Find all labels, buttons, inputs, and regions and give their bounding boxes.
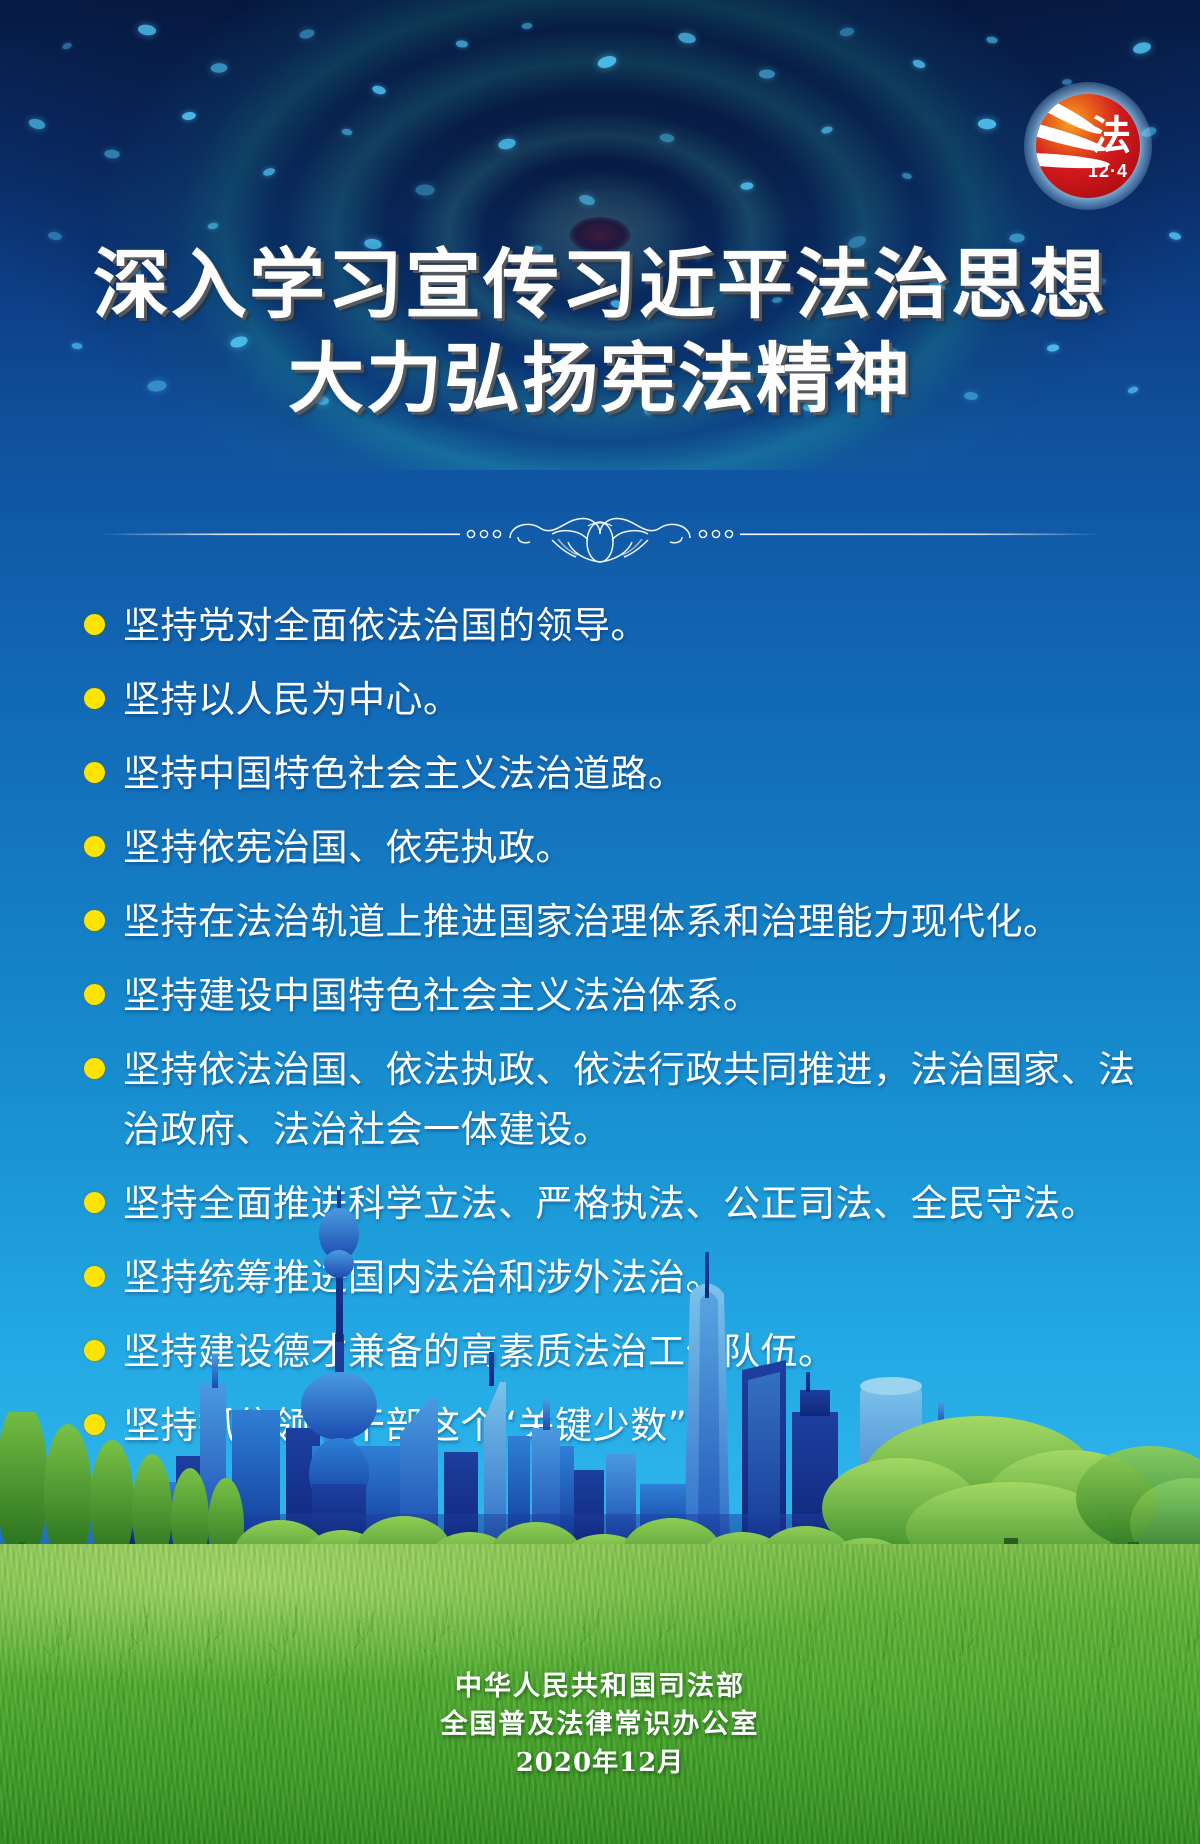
- star-speckle: [578, 193, 596, 207]
- principle-text: 坚持依宪治国、依宪执政。: [123, 818, 573, 878]
- bullet-dot-icon: [84, 984, 105, 1005]
- title-line-1: 深入学习宣传习近平法治思想: [0, 238, 1200, 332]
- star-speckle: [210, 63, 227, 73]
- bullet-dot-icon: [84, 614, 105, 635]
- bullet-dot-icon: [84, 836, 105, 857]
- principle-item: 坚持建设中国特色社会主义法治体系。: [84, 966, 1144, 1026]
- footer-credits: 中华人民共和国司法部 全国普及法律常识办公室 2020年12月: [0, 1668, 1200, 1782]
- star-speckle: [659, 133, 674, 143]
- constitution-day-logo: 法 12·4: [1024, 82, 1152, 210]
- bullet-dot-icon: [84, 910, 105, 931]
- star-speckle: [207, 222, 219, 230]
- star-speckle: [912, 58, 927, 69]
- bullet-dot-icon: [84, 1058, 105, 1079]
- principle-item: 坚持在法治轨道上推进国家治理体系和治理能力现代化。: [84, 892, 1144, 952]
- star-speckle: [740, 182, 753, 190]
- star-speckle: [182, 111, 197, 120]
- bullet-dot-icon: [84, 688, 105, 709]
- footer-org-line-2: 全国普及法律常识办公室: [0, 1706, 1200, 1744]
- principle-text: 坚持在法治轨道上推进国家治理体系和治理能力现代化。: [123, 892, 1061, 952]
- star-speckle: [821, 125, 834, 134]
- star-speckle: [677, 31, 696, 45]
- footer-org-line-1: 中华人民共和国司法部: [0, 1668, 1200, 1706]
- principle-text: 坚持建设中国特色社会主义法治体系。: [123, 966, 761, 1026]
- star-speckle: [497, 137, 516, 150]
- footer-date: 2020年12月: [0, 1744, 1200, 1782]
- star-speckle: [262, 167, 276, 177]
- ornamental-divider: [0, 508, 1200, 566]
- star-speckle: [596, 54, 618, 70]
- logo-disc: 法 12·4: [1036, 94, 1140, 198]
- star-speckle: [456, 40, 469, 48]
- logo-date-label: 12·4: [1088, 161, 1128, 182]
- principle-item: 坚持依法治国、依法执政、依法行政共同推进，法治国家、法治政府、法治社会一体建设。: [84, 1040, 1144, 1160]
- poster-title-block: 深入学习宣传习近平法治思想 大力弘扬宪法精神: [0, 238, 1200, 426]
- star-speckle: [902, 172, 913, 180]
- principle-text: 坚持党对全面依法治国的领导。: [123, 596, 648, 656]
- star-speckle: [299, 28, 316, 40]
- star-speckle: [104, 149, 120, 159]
- principle-text: 坚持依法治国、依法执政、依法行政共同推进，法治国家、法治政府、法治社会一体建设。: [123, 1040, 1144, 1160]
- star-speckle: [415, 185, 434, 196]
- star-speckle: [1132, 41, 1152, 56]
- poster-canvas: 法 12·4 深入学习宣传习近平法治思想 大力弘扬宪法精神: [0, 0, 1200, 1844]
- star-speckle: [61, 42, 72, 51]
- star-speckle: [759, 69, 775, 78]
- star-speckle: [521, 22, 532, 29]
- principle-item: 坚持党对全面依法治国的领导。: [84, 596, 1144, 656]
- star-speckle: [341, 128, 353, 136]
- bullet-dot-icon: [84, 762, 105, 783]
- principle-text: 坚持中国特色社会主义法治道路。: [123, 744, 686, 804]
- star-speckle: [839, 27, 855, 38]
- principle-item: 坚持以人民为中心。: [84, 670, 1144, 730]
- principle-text: 坚持以人民为中心。: [123, 670, 461, 730]
- star-speckle: [137, 23, 157, 36]
- principle-item: 坚持中国特色社会主义法治道路。: [84, 744, 1144, 804]
- star-speckle: [986, 36, 998, 44]
- star-speckle: [28, 117, 47, 131]
- star-speckle: [978, 118, 997, 129]
- logo-fa-character: 法: [1091, 116, 1131, 156]
- principle-item: 坚持依宪治国、依宪执政。: [84, 818, 1144, 878]
- title-line-2: 大力弘扬宪法精神: [0, 332, 1200, 426]
- star-speckle: [371, 84, 386, 95]
